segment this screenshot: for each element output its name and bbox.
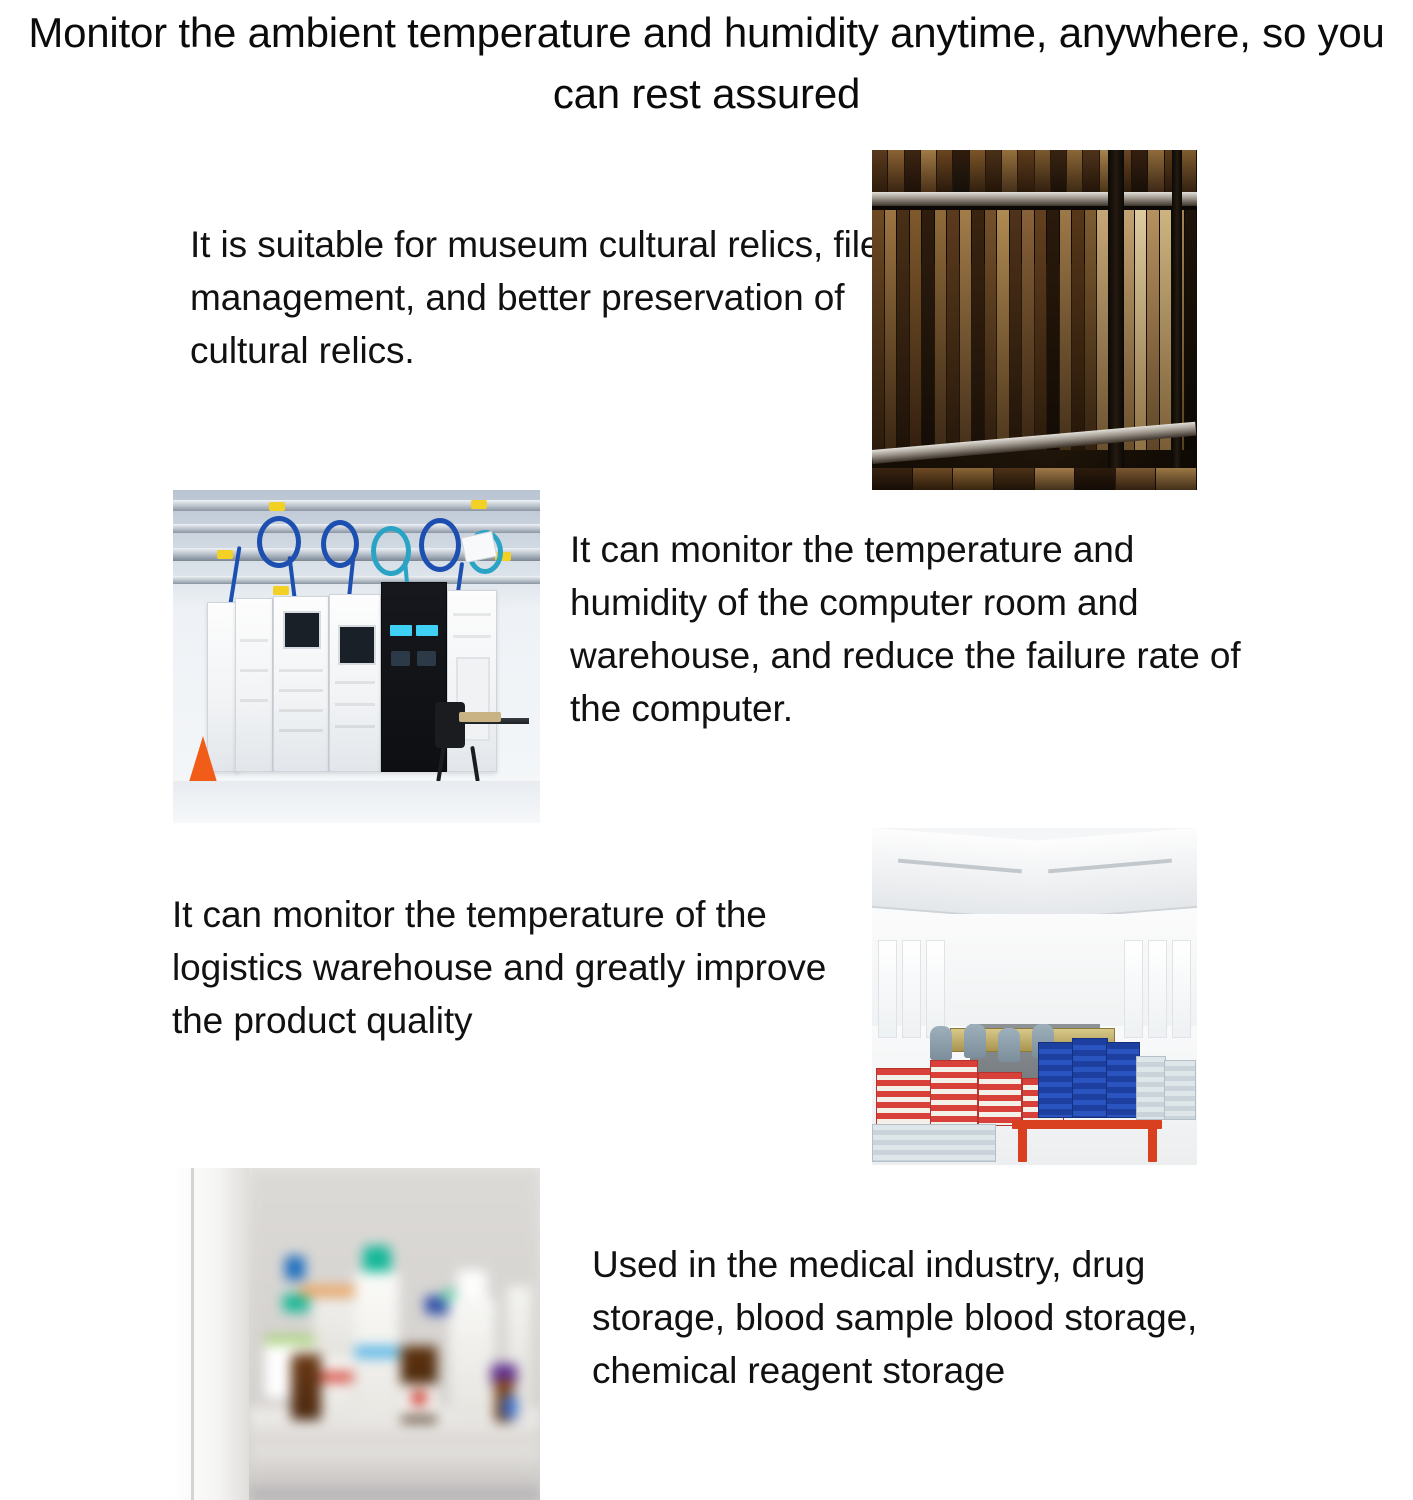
- bottle-back-right: [449, 1298, 495, 1420]
- archive-photo-content: [872, 150, 1197, 490]
- cable-tag-2: [471, 500, 487, 509]
- pallet-clear-2: [1164, 1060, 1196, 1120]
- feature-text-computer-room: It can monitor the temperature and humid…: [570, 523, 1260, 735]
- wall-label-orange: [299, 1286, 355, 1296]
- archive-bookshelves-photo: [872, 150, 1197, 490]
- pallet-red-1: [876, 1068, 932, 1126]
- server-rack-3: [329, 594, 381, 772]
- cable-loop-1: [257, 516, 301, 568]
- pharmacy-cabinet-photo: [173, 1168, 540, 1500]
- server-photo-content: [173, 490, 540, 823]
- warehouse-photo-content: [872, 828, 1197, 1165]
- archive-shelf-rail-upper: [872, 192, 1197, 206]
- page-title: Monitor the ambient temperature and humi…: [0, 2, 1413, 124]
- bottle-red-band: [321, 1372, 353, 1382]
- warehouse-window-5: [1148, 940, 1167, 1038]
- warehouse-window-1: [878, 940, 897, 1038]
- archive-shelf-post-2: [1172, 150, 1182, 490]
- wall-marker-blue: [285, 1256, 305, 1280]
- cable-tag-3: [217, 550, 233, 559]
- pallet-blue-3: [1106, 1042, 1140, 1118]
- bottle-tall-center: [355, 1272, 399, 1418]
- office-chair-back: [435, 702, 465, 748]
- bottle-back-band-green: [265, 1336, 315, 1344]
- archive-book-row-bottom: [872, 468, 1197, 490]
- warehouse-roof-left: [872, 828, 1035, 921]
- warehouse-window-3: [926, 940, 945, 1038]
- bottle-center-blue-band: [355, 1346, 399, 1358]
- bottle-logo-dot: [411, 1390, 427, 1406]
- pallet-blue-2: [1072, 1038, 1108, 1118]
- bottle-amber-1: [291, 1354, 321, 1420]
- archive-bottom-shelf: [872, 468, 1197, 490]
- server-room-floor: [173, 781, 540, 823]
- pallet-red-3: [978, 1072, 1022, 1126]
- cabinet-lower-body: [249, 1446, 540, 1500]
- cable-tag-5: [273, 586, 289, 595]
- pallet-clear-1: [1136, 1056, 1166, 1120]
- desk-items: [459, 712, 501, 722]
- cable-loop-4: [419, 518, 461, 572]
- pallet-blue-1: [1038, 1042, 1074, 1118]
- warehouse-rack-post-2: [1148, 1120, 1157, 1162]
- server-room-photo: [173, 490, 540, 823]
- ceiling-duct-4: [173, 576, 540, 584]
- warehouse-window-6: [1124, 940, 1143, 1038]
- traffic-cone: [189, 736, 217, 782]
- cabinet-door-edge: [191, 1168, 194, 1500]
- cable-tag-1: [269, 502, 285, 511]
- pallet-clear-3: [872, 1124, 996, 1162]
- hanging-sack-3: [998, 1028, 1020, 1062]
- warehouse-roof-right: [1035, 828, 1198, 921]
- pallet-red-2: [930, 1060, 978, 1126]
- logistics-warehouse-photo: [872, 828, 1197, 1165]
- feature-text-medical: Used in the medical industry, drug stora…: [592, 1238, 1262, 1397]
- feature-text-logistics: It can monitor the temperature of the lo…: [172, 888, 872, 1047]
- archive-top-shelf: [872, 150, 1197, 192]
- cabinet-door: [173, 1168, 249, 1500]
- hanging-sack-1: [930, 1026, 952, 1060]
- warehouse-rack-beam: [1012, 1120, 1162, 1129]
- bottle-small-blue-label: [503, 1396, 517, 1418]
- warehouse-window-4: [1172, 940, 1191, 1038]
- pharmacy-photo-content: [173, 1168, 540, 1500]
- bottle-white-1: [321, 1358, 353, 1420]
- warehouse-window-2: [902, 940, 921, 1038]
- archive-book-row-main: [872, 210, 1197, 450]
- warehouse-rack-post-1: [1018, 1120, 1027, 1162]
- archive-main-shelf: [872, 210, 1197, 450]
- feature-text-museum: It is suitable for museum cultural relic…: [190, 218, 890, 377]
- server-rack-1: [235, 598, 273, 772]
- archive-book-row-top: [872, 150, 1197, 192]
- hanging-sack-2: [964, 1024, 986, 1058]
- server-rack-2: [273, 596, 329, 772]
- wall-marker-green: [283, 1294, 309, 1312]
